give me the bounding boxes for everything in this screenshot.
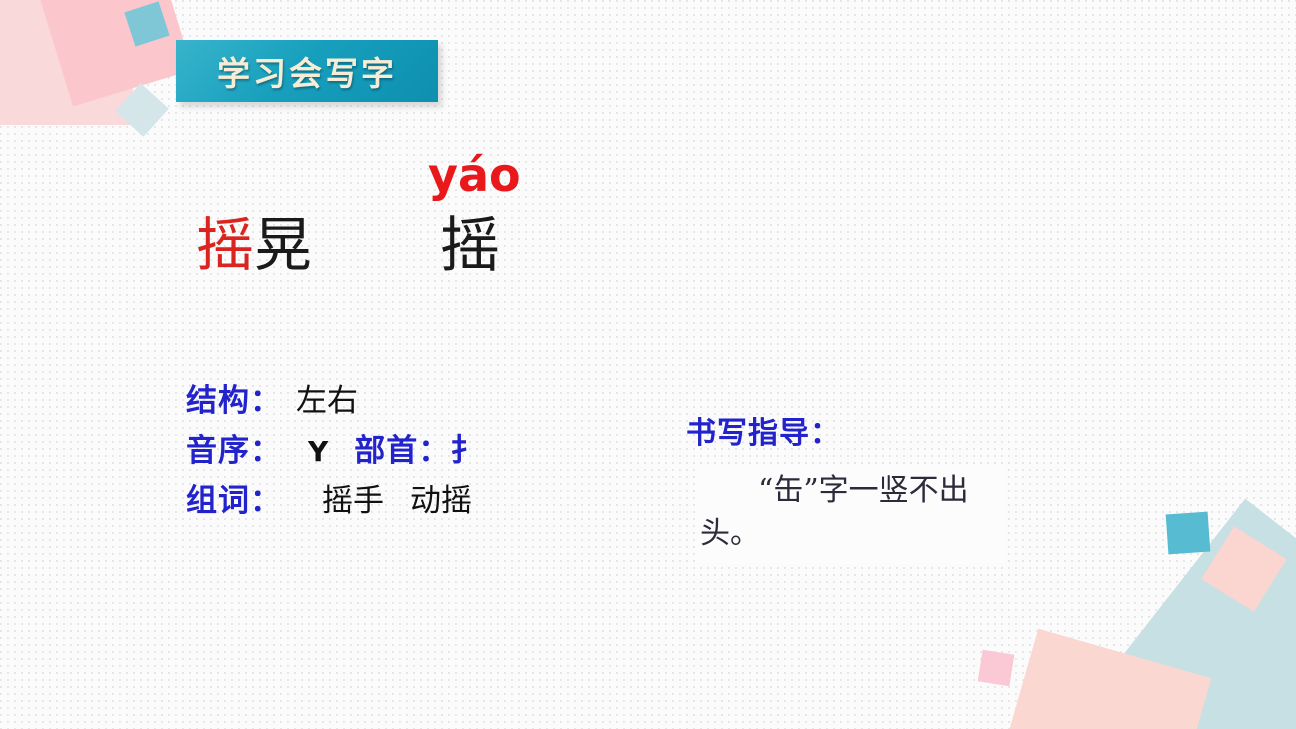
deco-pink-square-tiny	[978, 650, 1015, 687]
focus-character: 摇	[440, 216, 500, 276]
info-row-initial-radical: 音序：Y部首：扌	[186, 426, 481, 476]
radical-label: 部首：	[354, 433, 450, 469]
structure-label: 结构：	[186, 383, 282, 419]
radical-value: 扌	[450, 433, 481, 469]
words-value-first: 摇手	[322, 483, 384, 519]
title-banner: 学习会写字	[176, 40, 438, 102]
writing-guide-title: 书写指导：	[686, 408, 841, 452]
words-label: 组词：	[186, 483, 282, 519]
pinyin-label: yáo	[428, 148, 521, 202]
word-pair: 摇晃	[196, 216, 312, 274]
structure-value: 左右	[296, 383, 358, 419]
character-info-block: 结构：左右 音序：Y部首：扌 组词：摇手动摇	[186, 376, 481, 527]
writing-guide-note: “缶”字一竖不出头。	[700, 470, 1010, 555]
slide-canvas: 学习会写字 yáo 摇晃 摇 结构：左右 音序：Y部首：扌 组词：摇手动摇 书写…	[0, 0, 1296, 729]
words-value-second: 动摇	[410, 483, 472, 519]
word-pair-second-char: 晃	[254, 211, 312, 279]
info-row-words: 组词：摇手动摇	[186, 476, 481, 526]
initial-value: Y	[308, 435, 328, 468]
word-pair-first-char: 摇	[196, 211, 254, 279]
initial-label: 音序：	[186, 433, 282, 469]
title-banner-label: 学习会写字	[217, 47, 397, 95]
info-row-structure: 结构：左右	[186, 376, 481, 426]
deco-teal-square	[1166, 512, 1211, 555]
